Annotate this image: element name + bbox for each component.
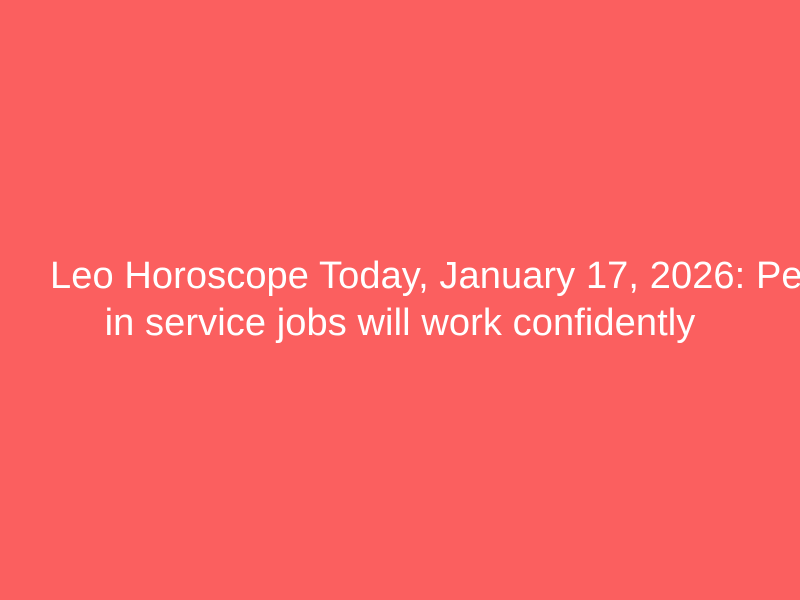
headline-card: Leo Horoscope Today, January 17, 2026: P… <box>0 0 800 600</box>
headline-text-block: Leo Horoscope Today, January 17, 2026: P… <box>30 253 770 347</box>
headline-line-1: Leo Horoscope Today, January 17, 2026: P… <box>50 253 750 300</box>
headline-line-2: in service jobs will work confidently <box>50 300 750 347</box>
